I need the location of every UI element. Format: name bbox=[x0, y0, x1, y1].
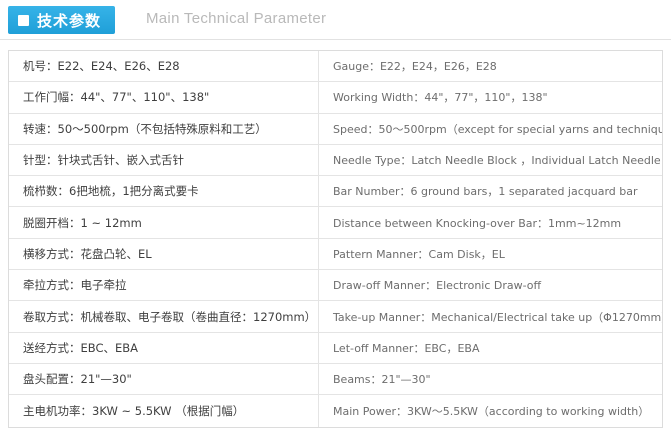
spec-label-cn: 主电机功率：3KW ~ 5.5KW （根据门幅） bbox=[9, 395, 319, 426]
spec-label-en: Working Width：44"，77"，110"，138" bbox=[319, 82, 662, 112]
spec-label-cn: 牵拉方式：电子牵拉 bbox=[9, 270, 319, 300]
table-row: 针型：针块式舌针、嵌入式舌针Needle Type：Latch Needle B… bbox=[9, 145, 662, 176]
table-row: 横移方式：花盘凸轮、ELPattern Manner：Cam Disk，EL bbox=[9, 239, 662, 270]
section-title-tab: 技术参数 bbox=[8, 6, 115, 34]
table-row: 牵拉方式：电子牵拉Draw-off Manner：Electronic Draw… bbox=[9, 270, 662, 301]
specification-table: 机号：E22、E24、E26、E28Gauge：E22，E24，E26，E28工… bbox=[8, 50, 663, 428]
spec-label-en: Distance between Knocking-over Bar：1mm~1… bbox=[319, 207, 662, 237]
spec-label-en: Speed：50～500rpm（except for special yarns… bbox=[319, 114, 662, 144]
spec-label-cn: 梳栉数：6把地梳，1把分离式要卡 bbox=[9, 176, 319, 206]
section-title-en: Main Technical Parameter bbox=[146, 10, 326, 27]
section-header: 技术参数 Main Technical Parameter bbox=[0, 0, 671, 40]
spec-label-en: Bar Number：6 ground bars，1 separated jac… bbox=[319, 176, 662, 206]
spec-label-cn: 送经方式：EBC、EBA bbox=[9, 333, 319, 363]
table-row: 工作门幅：44"、77"、110"、138"Working Width：44"，… bbox=[9, 82, 662, 113]
spec-label-cn: 卷取方式：机械卷取、电子卷取（卷曲直径：1270mm） bbox=[9, 301, 319, 331]
table-row: 脱圈开档：1 ~ 12mmDistance between Knocking-o… bbox=[9, 207, 662, 238]
table-row: 主电机功率：3KW ~ 5.5KW （根据门幅）Main Power：3KW～5… bbox=[9, 395, 662, 426]
spec-label-cn: 转速：50～500rpm（不包括特殊原料和工艺） bbox=[9, 114, 319, 144]
spec-label-en: Take-up Manner：Mechanical/Electrical tak… bbox=[319, 301, 662, 331]
table-row: 盘头配置：21"—30"Beams：21"—30" bbox=[9, 364, 662, 395]
table-row: 机号：E22、E24、E26、E28Gauge：E22，E24，E26，E28 bbox=[9, 51, 662, 82]
table-row: 转速：50～500rpm（不包括特殊原料和工艺）Speed：50～500rpm（… bbox=[9, 114, 662, 145]
table-row: 梳栉数：6把地梳，1把分离式要卡Bar Number：6 ground bars… bbox=[9, 176, 662, 207]
spec-label-cn: 脱圈开档：1 ~ 12mm bbox=[9, 207, 319, 237]
spec-label-en: Main Power：3KW～5.5KW（according to workin… bbox=[319, 395, 662, 426]
spec-label-en: Pattern Manner：Cam Disk，EL bbox=[319, 239, 662, 269]
spec-label-en: Draw-off Manner：Electronic Draw-off bbox=[319, 270, 662, 300]
spec-label-cn: 机号：E22、E24、E26、E28 bbox=[9, 51, 319, 81]
spec-label-cn: 横移方式：花盘凸轮、EL bbox=[9, 239, 319, 269]
spec-label-cn: 针型：针块式舌针、嵌入式舌针 bbox=[9, 145, 319, 175]
page-root: 技术参数 Main Technical Parameter 机号：E22、E24… bbox=[0, 0, 671, 406]
spec-label-cn: 盘头配置：21"—30" bbox=[9, 364, 319, 394]
table-row: 卷取方式：机械卷取、电子卷取（卷曲直径：1270mm）Take-up Manne… bbox=[9, 301, 662, 332]
table-row: 送经方式：EBC、EBALet-off Manner：EBC，EBA bbox=[9, 333, 662, 364]
spec-label-cn: 工作门幅：44"、77"、110"、138" bbox=[9, 82, 319, 112]
header-divider bbox=[0, 39, 671, 40]
spec-label-en: Gauge：E22，E24，E26，E28 bbox=[319, 51, 662, 81]
square-marker-icon bbox=[18, 15, 29, 26]
section-title-cn: 技术参数 bbox=[37, 10, 101, 31]
spec-label-en: Beams：21"—30" bbox=[319, 364, 662, 394]
spec-label-en: Let-off Manner：EBC，EBA bbox=[319, 333, 662, 363]
spec-label-en: Needle Type：Latch Needle Block ，Individu… bbox=[319, 145, 662, 175]
